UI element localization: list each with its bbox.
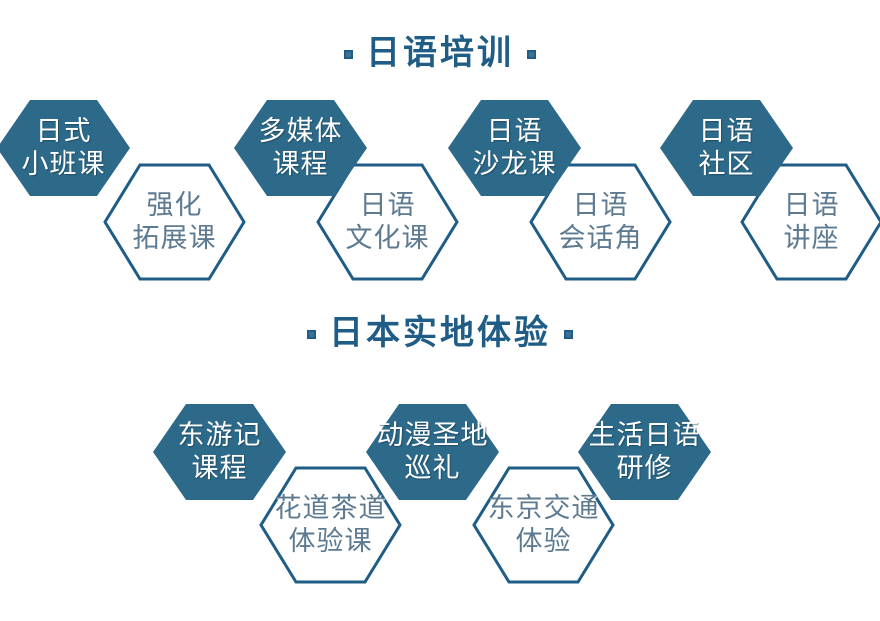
- slide-canvas: 日语培训 日式 小班课 多媒体 课程 日语 沙龙课: [0, 0, 880, 621]
- hexagon-shape: [578, 404, 711, 500]
- section-title-2-text: 日本实地体验: [329, 313, 551, 353]
- hexagon-1-7[interactable]: 日语 社区: [660, 100, 793, 196]
- hexagon-1-3[interactable]: 多媒体 课程: [234, 100, 367, 196]
- hexagon-1-5[interactable]: 日语 沙龙课: [448, 100, 581, 196]
- square-bullet-icon-left-1: [344, 50, 353, 59]
- square-bullet-icon-right-2: [564, 330, 573, 339]
- hexagon-shape: [660, 100, 793, 196]
- section-title-1-text: 日语培训: [366, 33, 514, 73]
- hexagon-2-5[interactable]: 生活日语 研修: [578, 404, 711, 500]
- section-title-2: 日本实地体验: [0, 313, 880, 353]
- hexagon-shape: [0, 100, 130, 196]
- hexagon-2-1[interactable]: 东游记 课程: [153, 404, 286, 500]
- hexagon-1-1[interactable]: 日式 小班课: [0, 100, 130, 196]
- square-bullet-icon-left-2: [307, 330, 316, 339]
- square-bullet-icon-right-1: [527, 50, 536, 59]
- hexagon-shape: [234, 100, 367, 196]
- section-title-1: 日语培训: [0, 33, 880, 73]
- hexagon-2-3[interactable]: 动漫圣地 巡礼: [366, 404, 499, 500]
- hexagon-shape: [366, 404, 499, 500]
- hexagon-shape: [153, 404, 286, 500]
- hexagon-shape: [448, 100, 581, 196]
